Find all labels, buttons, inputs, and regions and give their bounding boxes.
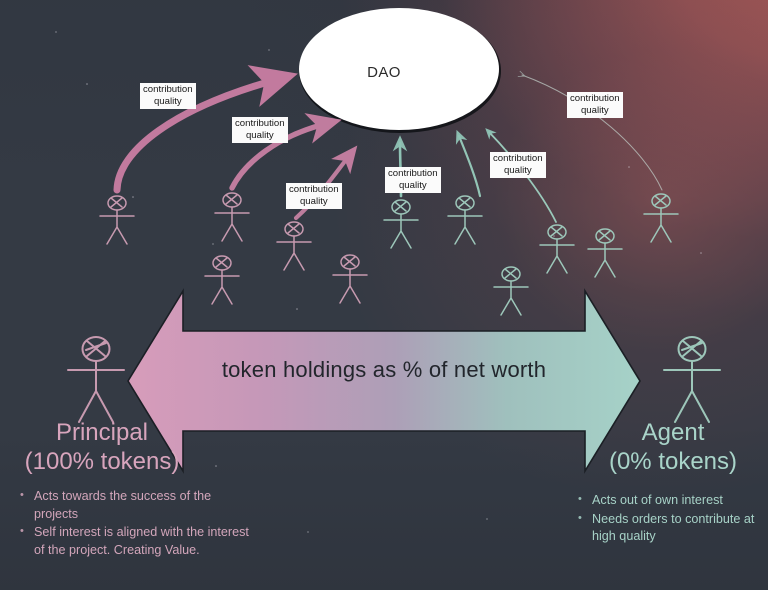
agent-bullets: Acts out of own interest Needs orders to… bbox=[576, 492, 768, 547]
slide-canvas: DAO contribution quality contribution qu… bbox=[0, 0, 768, 590]
cq-line2: quality bbox=[581, 105, 609, 116]
stick-figure-icon bbox=[215, 193, 249, 241]
cq-line2: quality bbox=[399, 180, 427, 191]
cq-line2: quality bbox=[300, 196, 328, 207]
contribution-quality-label: contribution quality bbox=[567, 92, 623, 118]
agent-title-line2: (0% tokens) bbox=[578, 447, 768, 476]
stick-figure-icon bbox=[494, 267, 528, 315]
cq-line1: contribution bbox=[289, 184, 339, 195]
stick-figure-icon bbox=[100, 196, 134, 244]
cq-line1: contribution bbox=[235, 118, 285, 129]
list-item: Self interest is aligned with the intere… bbox=[18, 524, 254, 559]
principal-title: Principal (100% tokens) bbox=[4, 418, 200, 476]
contribution-quality-label: contribution quality bbox=[286, 183, 342, 209]
stick-figure-icon bbox=[205, 256, 239, 304]
contribution-quality-label: contribution quality bbox=[232, 117, 288, 143]
spectrum-arrow-label: token holdings as % of net worth bbox=[0, 357, 768, 383]
dao-label: DAO bbox=[0, 64, 768, 81]
agent-title-line1: Agent bbox=[578, 418, 768, 447]
cq-line1: contribution bbox=[388, 168, 438, 179]
contribution-quality-label: contribution quality bbox=[490, 152, 546, 178]
stick-figure-icon bbox=[540, 225, 574, 273]
cq-line2: quality bbox=[246, 130, 274, 141]
list-item: Acts out of own interest bbox=[576, 492, 768, 510]
cq-line1: contribution bbox=[570, 93, 620, 104]
list-item: Needs orders to contribute at high quali… bbox=[576, 511, 768, 546]
stick-figure-icon bbox=[644, 194, 678, 242]
principal-title-line2: (100% tokens) bbox=[4, 447, 200, 476]
agent-title: Agent (0% tokens) bbox=[578, 418, 768, 476]
stick-figure-icon bbox=[384, 200, 418, 248]
stick-figure-icon bbox=[333, 255, 367, 303]
cq-line1: contribution bbox=[493, 153, 543, 164]
crowd-figures-right bbox=[384, 194, 678, 315]
principal-title-line1: Principal bbox=[4, 418, 200, 447]
contribution-quality-label: contribution quality bbox=[385, 167, 441, 193]
cq-line2: quality bbox=[504, 165, 532, 176]
curved-arrow-icon bbox=[459, 136, 480, 196]
stick-figure-icon bbox=[277, 222, 311, 270]
cq-line2: quality bbox=[154, 96, 182, 107]
contribution-quality-label: contribution quality bbox=[140, 83, 196, 109]
principal-bullets: Acts towards the success of the projects… bbox=[18, 488, 254, 560]
crowd-figures-left bbox=[100, 193, 367, 304]
stick-figure-icon bbox=[588, 229, 622, 277]
cq-line1: contribution bbox=[143, 84, 193, 95]
stick-figure-icon bbox=[448, 196, 482, 244]
list-item: Acts towards the success of the projects bbox=[18, 488, 254, 523]
